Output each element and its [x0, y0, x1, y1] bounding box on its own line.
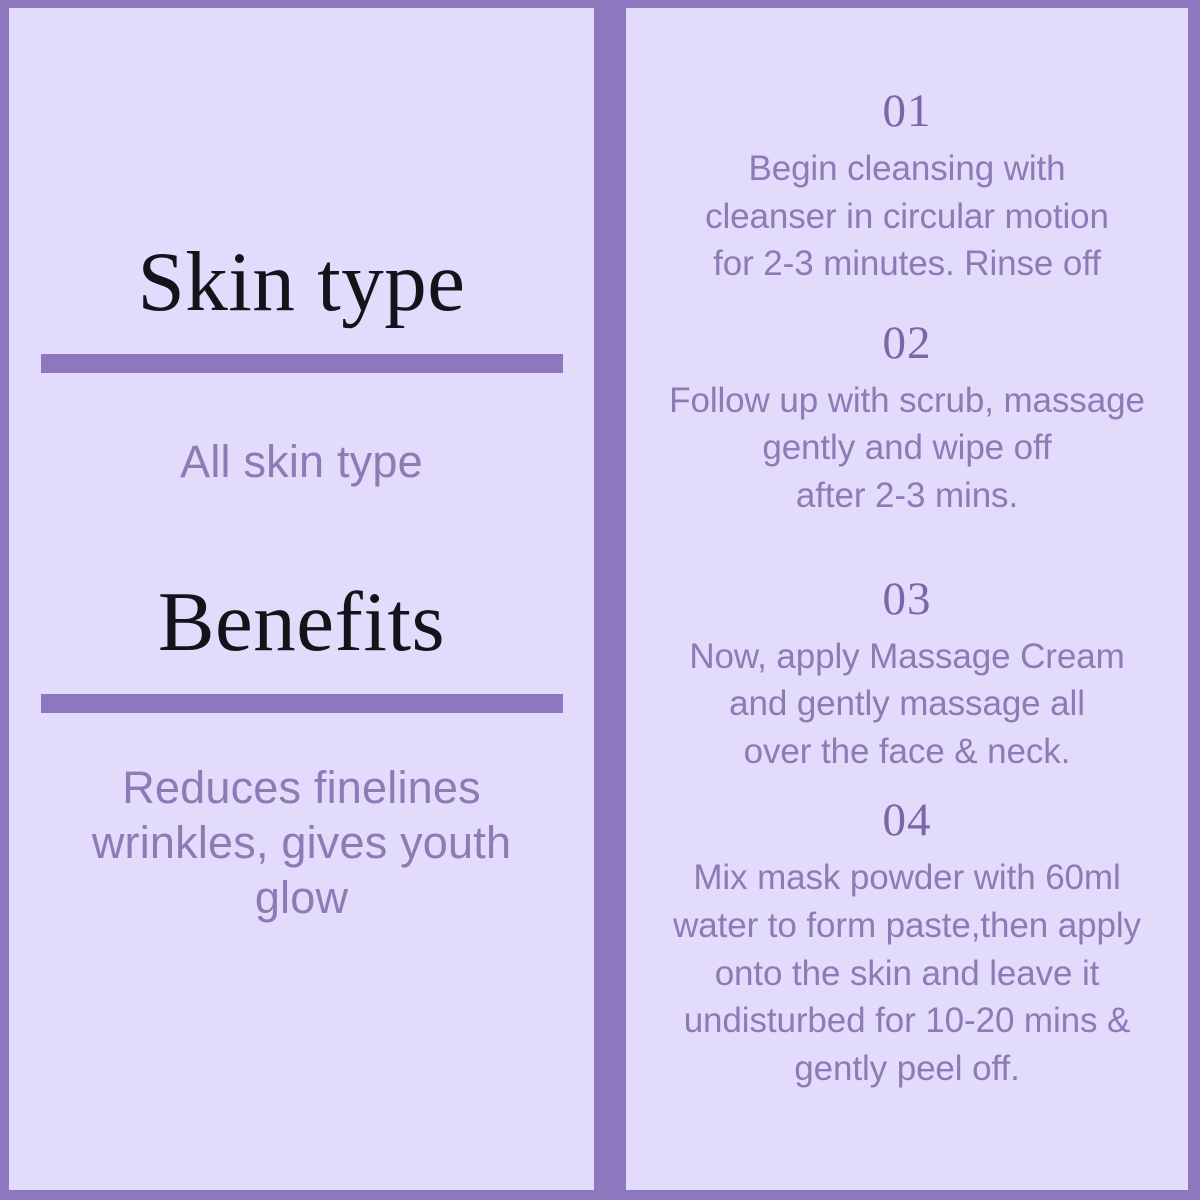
- step-item: 01 Begin cleansing with cleanser in circ…: [640, 88, 1174, 288]
- step-item: 03 Now, apply Massage Cream and gently m…: [640, 576, 1174, 776]
- skin-type-heading: Skin type: [138, 240, 466, 325]
- step-description: Mix mask powder with 60ml water to form …: [640, 854, 1174, 1092]
- step-description: Now, apply Massage Cream and gently mass…: [640, 633, 1174, 776]
- step-number: 01: [640, 88, 1174, 135]
- product-info-card: Skin type All skin type Benefits Reduces…: [0, 0, 1200, 1200]
- step-description: Follow up with scrub, massage gently and…: [640, 377, 1174, 520]
- left-panel: Skin type All skin type Benefits Reduces…: [9, 8, 594, 1190]
- right-panel-steps: 01 Begin cleansing with cleanser in circ…: [626, 8, 1188, 1190]
- skin-type-value: All skin type: [180, 435, 423, 490]
- step-item: 02 Follow up with scrub, massage gently …: [640, 320, 1174, 520]
- benefits-heading: Benefits: [158, 580, 445, 665]
- step-item: 04 Mix mask powder with 60ml water to fo…: [640, 797, 1174, 1092]
- step-number: 02: [640, 320, 1174, 367]
- step-number: 04: [640, 797, 1174, 844]
- panel-divider: [603, 8, 617, 1190]
- step-number: 03: [640, 576, 1174, 623]
- benefits-value: Reduces finelines wrinkles, gives youth …: [32, 761, 572, 926]
- step-description: Begin cleansing with cleanser in circula…: [640, 145, 1174, 288]
- skin-type-divider-rule: [41, 354, 563, 373]
- benefits-divider-rule: [41, 694, 563, 713]
